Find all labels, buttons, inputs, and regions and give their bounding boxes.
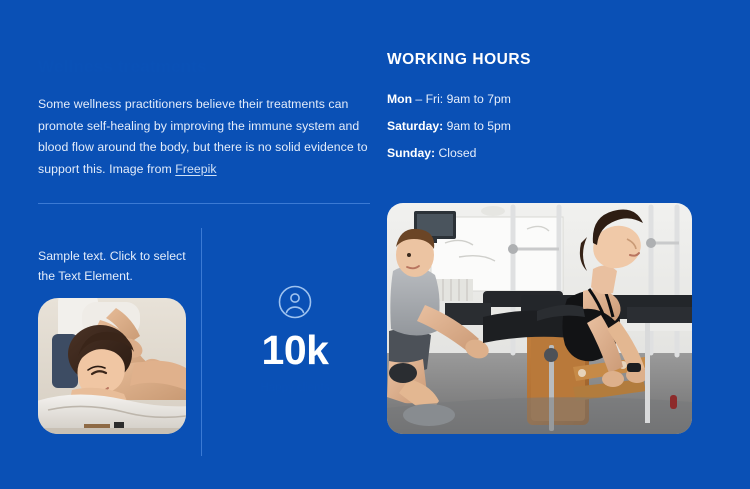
page-root: Wellness treatments Some wellness practi… (0, 0, 750, 489)
stat-counter: 10k Happy clients (230, 285, 360, 396)
working-hours-title: WORKING HOURS (387, 50, 687, 69)
pilates-image[interactable] (387, 203, 692, 434)
massage-photo-art (38, 298, 186, 434)
freepik-link[interactable]: Freepik (175, 162, 216, 176)
hours-label-sunday: Sunday: (387, 146, 435, 160)
hours-label-saturday: Saturday: (387, 119, 443, 133)
hours-value-sunday: Closed (435, 146, 476, 160)
working-hours-block: WORKING HOURS Mon – Fri: 9am to 7pm Satu… (387, 50, 687, 162)
hours-value-saturday: 9am to 5pm (443, 119, 511, 133)
user-avatar-icon (278, 285, 312, 319)
intro-heading: Wellness treatments (38, 56, 370, 78)
sample-text[interactable]: Sample text. Click to select the Text El… (38, 247, 198, 286)
horizontal-divider (38, 203, 370, 204)
vertical-divider (201, 228, 202, 456)
intro-paragraph: Some wellness practitioners believe thei… (38, 94, 370, 180)
hours-value-monfri: – Fri: 9am to 7pm (412, 92, 511, 106)
massage-image[interactable] (38, 298, 186, 434)
hours-row-sunday: Sunday: Closed (387, 144, 687, 162)
pilates-photo-art (387, 203, 692, 434)
hours-row-saturday: Saturday: 9am to 5pm (387, 117, 687, 135)
intro-block: Wellness treatments Some wellness practi… (38, 56, 370, 180)
counter-value: 10k (230, 329, 360, 372)
hours-label-monfri: Mon (387, 92, 412, 106)
hours-row-monfri: Mon – Fri: 9am to 7pm (387, 90, 687, 108)
counter-caption: Happy clients (230, 380, 360, 396)
